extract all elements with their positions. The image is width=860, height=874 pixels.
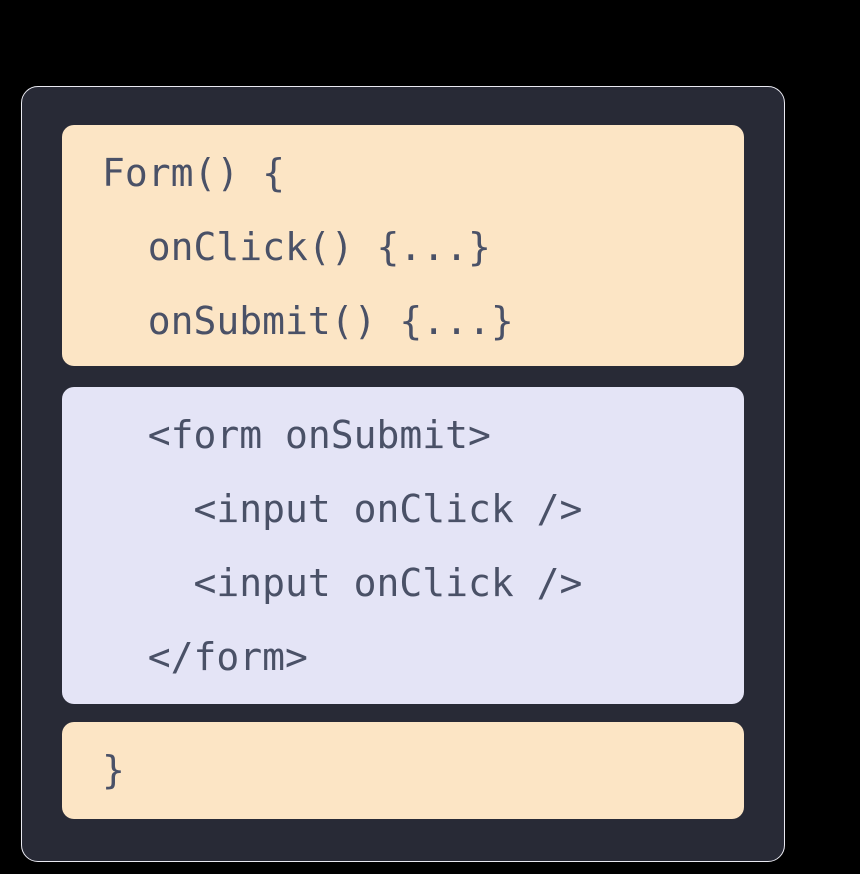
code-line: onClick() {...} [62,210,744,284]
code-line: <input onClick /> [62,472,744,546]
code-line: onSubmit() {...} [62,284,744,358]
code-panel-component-header: Form() { onClick() {...} onSubmit() {...… [62,125,744,366]
code-line: } [62,722,744,819]
code-card: Form() { onClick() {...} onSubmit() {...… [21,86,785,862]
code-line: <input onClick /> [62,546,744,620]
panel-divider-gap [62,704,744,722]
code-line: Form() { [62,136,744,210]
diagram-canvas: Form() { onClick() {...} onSubmit() {...… [0,0,860,874]
code-panel-jsx-markup: <form onSubmit> <input onClick /> <input… [62,387,744,704]
code-line: </form> [62,620,744,694]
code-panel-component-footer: } [62,722,744,819]
code-line: <form onSubmit> [62,398,744,472]
panel-divider-gap [62,366,744,387]
